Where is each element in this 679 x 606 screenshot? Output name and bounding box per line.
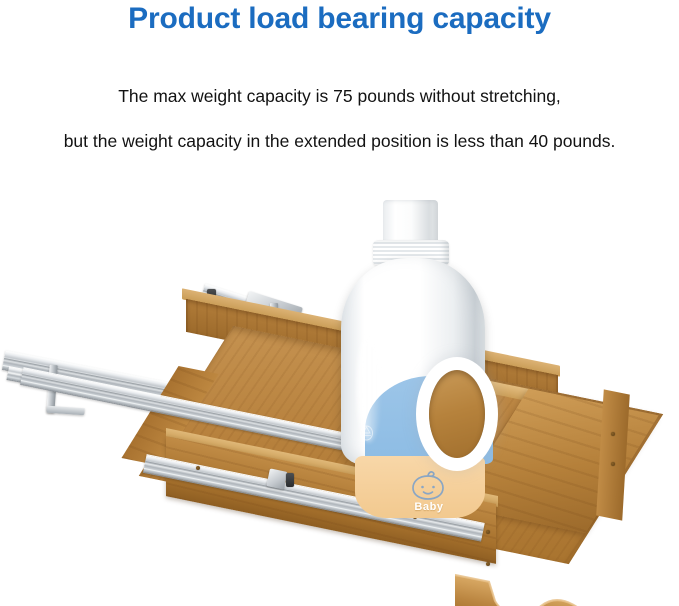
baby-detergent-bottle: Baby bbox=[339, 200, 487, 465]
bottle-cap bbox=[383, 200, 438, 244]
screw-head bbox=[486, 562, 490, 566]
product-infographic: Product load bearing capacity The max we… bbox=[0, 0, 679, 606]
bottle-brand-text: Baby bbox=[401, 501, 457, 513]
screw-head bbox=[611, 462, 615, 466]
page-title: Product load bearing capacity bbox=[0, 2, 679, 36]
baby-face-icon bbox=[407, 470, 449, 502]
bottle-highlight bbox=[357, 332, 381, 442]
product-photo: Baby bbox=[0, 170, 679, 606]
screw-head bbox=[611, 432, 615, 436]
description-line-1: The max weight capacity is 75 pounds wit… bbox=[0, 85, 679, 107]
screw-head bbox=[196, 466, 200, 470]
screw-head bbox=[486, 530, 490, 534]
rail-latch bbox=[286, 473, 294, 487]
description-line-2: but the weight capacity in the extended … bbox=[0, 130, 679, 152]
rail-detent-lever bbox=[266, 468, 287, 489]
bottle-handle bbox=[429, 370, 485, 458]
bottle-handle-opening bbox=[429, 370, 485, 458]
scalloped-cutout bbox=[455, 569, 645, 606]
bottle-body: Baby bbox=[341, 258, 485, 465]
